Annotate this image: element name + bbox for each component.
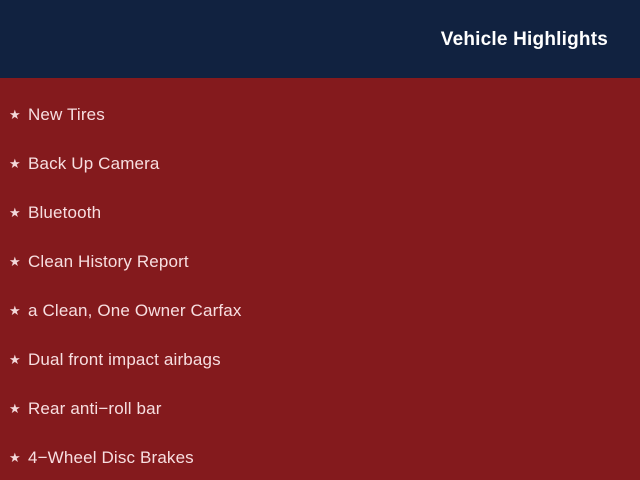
star-icon: ★ [9, 255, 28, 268]
highlight-label: a Clean, One Owner Carfax [28, 302, 242, 319]
highlights-body: ★ New Tires ★ Back Up Camera ★ Bluetooth… [0, 78, 640, 480]
list-item[interactable]: ★ a Clean, One Owner Carfax [0, 286, 640, 335]
list-item[interactable]: ★ Dual front impact airbags [0, 335, 640, 384]
header-bar: Vehicle Highlights [0, 0, 640, 78]
highlight-label: New Tires [28, 106, 105, 123]
star-icon: ★ [9, 206, 28, 219]
list-item[interactable]: ★ 4−Wheel Disc Brakes [0, 433, 640, 480]
highlight-label: 4−Wheel Disc Brakes [28, 449, 194, 466]
page-title: Vehicle Highlights [441, 30, 608, 49]
list-item[interactable]: ★ New Tires [0, 90, 640, 139]
highlight-label: Dual front impact airbags [28, 351, 221, 368]
list-item[interactable]: ★ Bluetooth [0, 188, 640, 237]
list-item[interactable]: ★ Clean History Report [0, 237, 640, 286]
highlight-label: Clean History Report [28, 253, 189, 270]
list-item[interactable]: ★ Back Up Camera [0, 139, 640, 188]
vehicle-highlights-panel: Vehicle Highlights ★ New Tires ★ Back Up… [0, 0, 640, 480]
star-icon: ★ [9, 402, 28, 415]
star-icon: ★ [9, 157, 28, 170]
star-icon: ★ [9, 353, 28, 366]
highlight-label: Rear anti−roll bar [28, 400, 162, 417]
list-item[interactable]: ★ Rear anti−roll bar [0, 384, 640, 433]
star-icon: ★ [9, 304, 28, 317]
highlight-label: Back Up Camera [28, 155, 160, 172]
highlight-label: Bluetooth [28, 204, 101, 221]
vehicle-highlights-list: ★ New Tires ★ Back Up Camera ★ Bluetooth… [0, 90, 640, 480]
star-icon: ★ [9, 451, 28, 464]
star-icon: ★ [9, 108, 28, 121]
